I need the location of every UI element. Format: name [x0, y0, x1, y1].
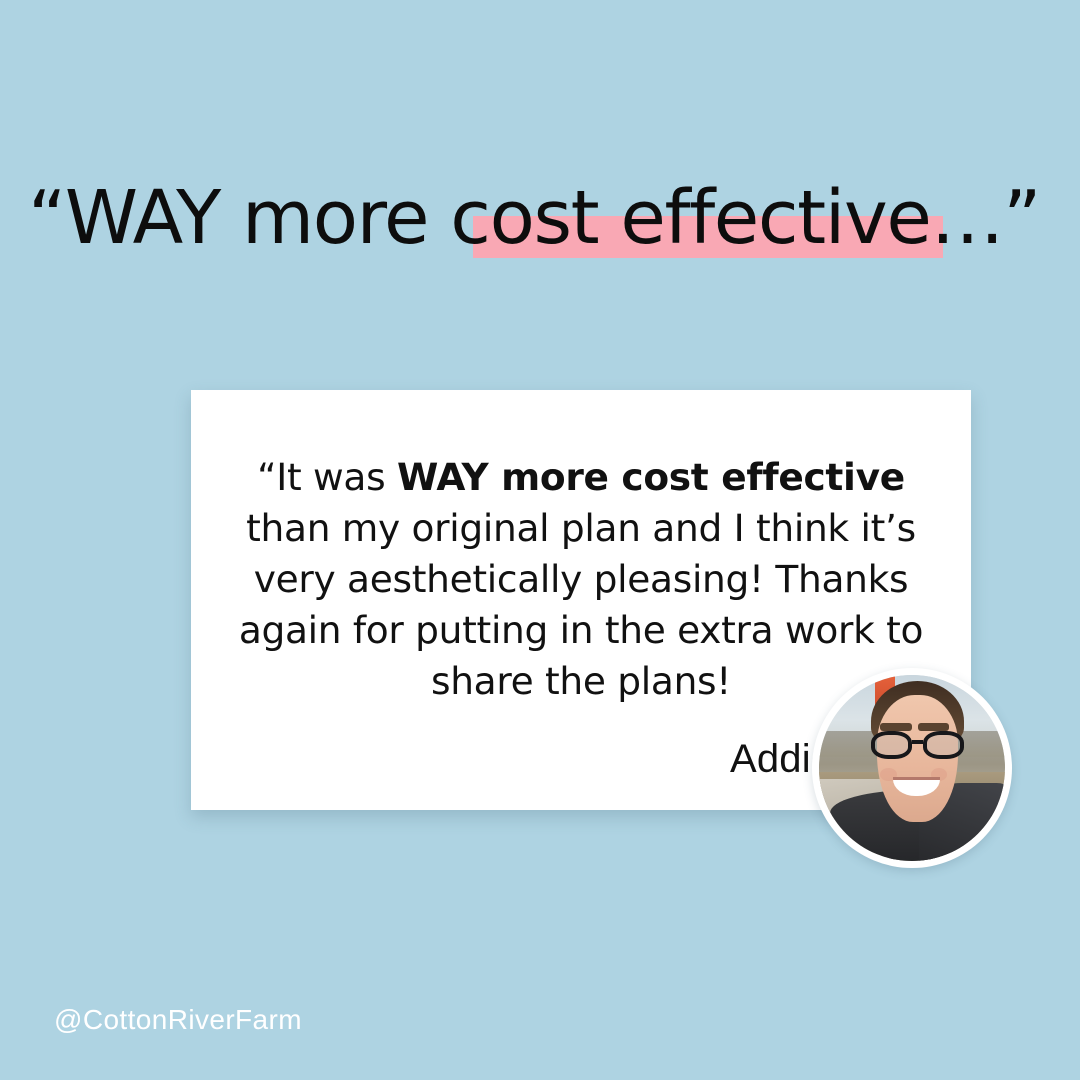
avatar: [812, 668, 1012, 868]
photo-lens-right: [923, 731, 964, 759]
photo-face: [877, 695, 959, 821]
quote-line1-prefix: “It was: [257, 455, 397, 499]
photo-eyebrow-right: [918, 723, 950, 730]
page-title: “WAY more cost effective…”: [28, 168, 1052, 268]
headline-segment-highlighted: cost effective: [450, 175, 930, 261]
testimonial-author-name: Addie H.: [191, 735, 885, 783]
photo-glasses-bridge: [912, 740, 923, 744]
testimonial-quote-text: “It was WAY more cost effective than my …: [227, 452, 935, 707]
headline-segment-after: …”: [930, 175, 1040, 261]
avatar-photo: [819, 675, 1005, 861]
eyeglasses-icon: [871, 731, 964, 759]
quote-line1-suffix: than: [246, 506, 330, 550]
headline-segment-before: “WAY more: [28, 175, 450, 261]
quote-remainder: my original plan and I think it’s very a…: [239, 506, 923, 703]
quote-emphasis: WAY more cost effective: [397, 455, 905, 499]
photo-eyebrow-left: [880, 723, 912, 730]
photo-lens-left: [871, 731, 912, 759]
social-handle: @CottonRiverFarm: [54, 1000, 302, 1040]
